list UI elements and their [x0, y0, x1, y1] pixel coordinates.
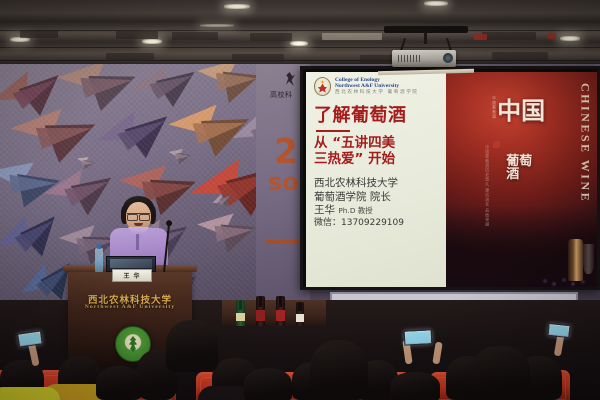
ceiling-light — [142, 39, 162, 44]
air-vent — [106, 53, 154, 61]
audience-member-head — [96, 366, 142, 400]
slide-heading: 了解葡萄酒 — [314, 101, 440, 127]
wine-bottle — [236, 300, 245, 326]
wine-bottle — [276, 296, 285, 326]
seal-icon — [493, 141, 500, 148]
presentation-slide: College of Enology Northwest A&F Univers… — [306, 72, 597, 287]
air-vent — [116, 31, 158, 39]
ceiling-light — [290, 41, 308, 46]
air-vent — [322, 33, 382, 40]
slide-right-panel: 中国葡萄酒 中国 葡萄 酒 中国葡萄酒历史悠久 源远流长 品质卓越 CHINES… — [446, 72, 597, 287]
speaker-placket — [136, 234, 139, 250]
air-vent — [232, 54, 284, 62]
ceiling-light — [560, 36, 580, 41]
exit-sign — [548, 33, 556, 39]
projector-vent — [398, 55, 420, 62]
exit-sign — [474, 34, 487, 40]
ceiling-light — [224, 4, 250, 9]
water-bottle — [95, 248, 103, 272]
audience-member-head — [390, 372, 440, 400]
banner-cn-text: 高校科 — [270, 90, 293, 100]
grapes-graphic — [537, 271, 591, 287]
slide-rule — [316, 130, 350, 132]
presenter-title: Ph.D 教授 — [338, 206, 372, 215]
projector-lens-icon — [443, 53, 453, 63]
lecture-hall-photo: 高校科 2 so College of Enology Northwest A&… — [0, 0, 600, 400]
crest-icon — [314, 77, 331, 96]
ceiling-light — [424, 1, 448, 6]
ceiling-projector — [378, 26, 474, 76]
audience-member-head — [244, 368, 292, 400]
wechat-contact: 微信：13709229109 — [314, 218, 440, 230]
poster-subtitle-line-2: 酒 — [506, 167, 532, 181]
audience-member-head — [166, 320, 218, 372]
air-vent — [20, 30, 58, 38]
ceiling-rail — [378, 69, 474, 76]
university-logo: College of Enology Northwest A&F Univers… — [314, 77, 440, 95]
banner-big-letter-2: so — [268, 168, 299, 196]
glasses-icon — [127, 213, 150, 220]
lectern-org-en: Northwest A&F University — [68, 304, 192, 310]
banner-logo-mark — [286, 72, 295, 86]
air-vent — [250, 33, 292, 41]
audience-arm — [432, 342, 442, 365]
air-vent — [492, 52, 548, 60]
name-plate: 王 华 — [112, 269, 152, 282]
slide-subheading-line-2: 三热爱” 开始 — [314, 151, 440, 167]
poster-title-en: CHINESE WINE — [577, 83, 592, 203]
air-vent — [482, 32, 536, 40]
projection-screen: College of Enology Northwest A&F Univers… — [300, 66, 600, 290]
slide-subheading-line-1: 从 “五讲四美 — [314, 135, 440, 151]
ceiling — [0, 0, 600, 72]
presenter-name: 王华 — [314, 204, 335, 216]
slide-left-panel: College of Enology Northwest A&F Univers… — [306, 72, 446, 287]
wine-bottle — [256, 296, 265, 326]
audience-member-head — [310, 340, 368, 400]
smartphone — [547, 323, 570, 338]
affiliation-line-1: 西北农林科技大学 — [314, 177, 440, 191]
ceiling-light — [200, 24, 234, 27]
wine-bottle — [296, 302, 304, 326]
projector-body — [392, 50, 456, 67]
wine-display-table — [222, 300, 326, 326]
smartphone — [404, 329, 433, 345]
name-plate-text: 王 华 — [123, 271, 140, 280]
poster-title-cn: 中国 — [497, 91, 545, 126]
audience-seating — [0, 326, 600, 400]
banner-rule — [266, 240, 300, 244]
poster-subtitle-cn: 葡萄 酒 — [506, 154, 532, 181]
banner-big-letter: 2 — [274, 132, 298, 172]
affiliation-line-2: 葡萄酒学院 院长 — [314, 191, 440, 205]
air-vent — [172, 32, 218, 40]
projector-arm — [424, 32, 427, 44]
poster-vertical-column: 中国葡萄酒历史悠久 源远流长 品质卓越 — [484, 145, 492, 240]
smartphone — [17, 330, 43, 347]
wine-glass-graphic — [583, 244, 594, 274]
audience-member-shoulders — [0, 387, 60, 400]
audience-member-head — [470, 346, 530, 400]
logo-line-2: Northwest A&F University — [335, 83, 419, 89]
logo-line-cn: 西北农林科技大学 葡萄酒学院 — [335, 90, 419, 95]
